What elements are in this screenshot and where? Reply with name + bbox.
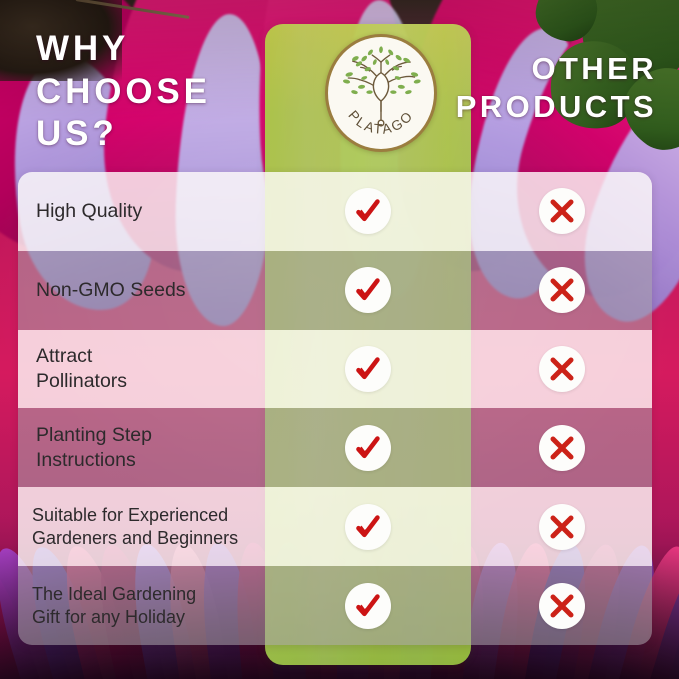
- other-products-cell: [471, 188, 652, 234]
- cross-mark-icon: [539, 267, 585, 313]
- table-row: The Ideal Gardening Gift for any Holiday: [18, 566, 652, 645]
- cross-mark-icon: [539, 583, 585, 629]
- us-cell: [265, 504, 471, 550]
- us-cell: [265, 425, 471, 471]
- table-row: Suitable for Experienced Gardeners and B…: [18, 487, 652, 566]
- cross-mark-icon: [539, 504, 585, 550]
- page-title-why-choose-us: WHY CHOOSE US?: [36, 28, 211, 156]
- us-cell: [265, 583, 471, 629]
- table-row: Planting Step Instructions: [18, 408, 652, 487]
- check-mark-icon: [345, 267, 391, 313]
- other-products-cell: [471, 267, 652, 313]
- column-header-other-products: OTHER PRODUCTS: [456, 50, 657, 126]
- other-products-cell: [471, 425, 652, 471]
- check-mark-icon: [345, 188, 391, 234]
- cross-mark-icon: [539, 188, 585, 234]
- feature-label: Non-GMO Seeds: [18, 278, 265, 303]
- table-row: High Quality: [18, 172, 652, 251]
- feature-label: Attract Pollinators: [18, 344, 265, 394]
- other-products-cell: [471, 583, 652, 629]
- us-cell: [265, 188, 471, 234]
- feature-label: High Quality: [18, 199, 265, 224]
- check-mark-icon: [345, 346, 391, 392]
- other-products-cell: [471, 504, 652, 550]
- feature-label: Suitable for Experienced Gardeners and B…: [18, 504, 265, 550]
- table-row: Non-GMO Seeds: [18, 251, 652, 330]
- us-cell: [265, 346, 471, 392]
- cross-mark-icon: [539, 425, 585, 471]
- plataago-tree-shovel-logo: PLATAGO: [325, 34, 437, 152]
- check-mark-icon: [345, 504, 391, 550]
- comparison-infographic: WHY CHOOSE US? OTHER PRODUCTS: [0, 0, 679, 679]
- cross-mark-icon: [539, 346, 585, 392]
- check-mark-icon: [345, 425, 391, 471]
- check-mark-icon: [345, 583, 391, 629]
- feature-comparison-table: High QualityNon-GMO SeedsAttract Pollina…: [18, 172, 652, 645]
- feature-label: The Ideal Gardening Gift for any Holiday: [18, 583, 265, 629]
- us-cell: [265, 267, 471, 313]
- table-row: Attract Pollinators: [18, 330, 652, 409]
- feature-label: Planting Step Instructions: [18, 423, 265, 473]
- other-products-cell: [471, 346, 652, 392]
